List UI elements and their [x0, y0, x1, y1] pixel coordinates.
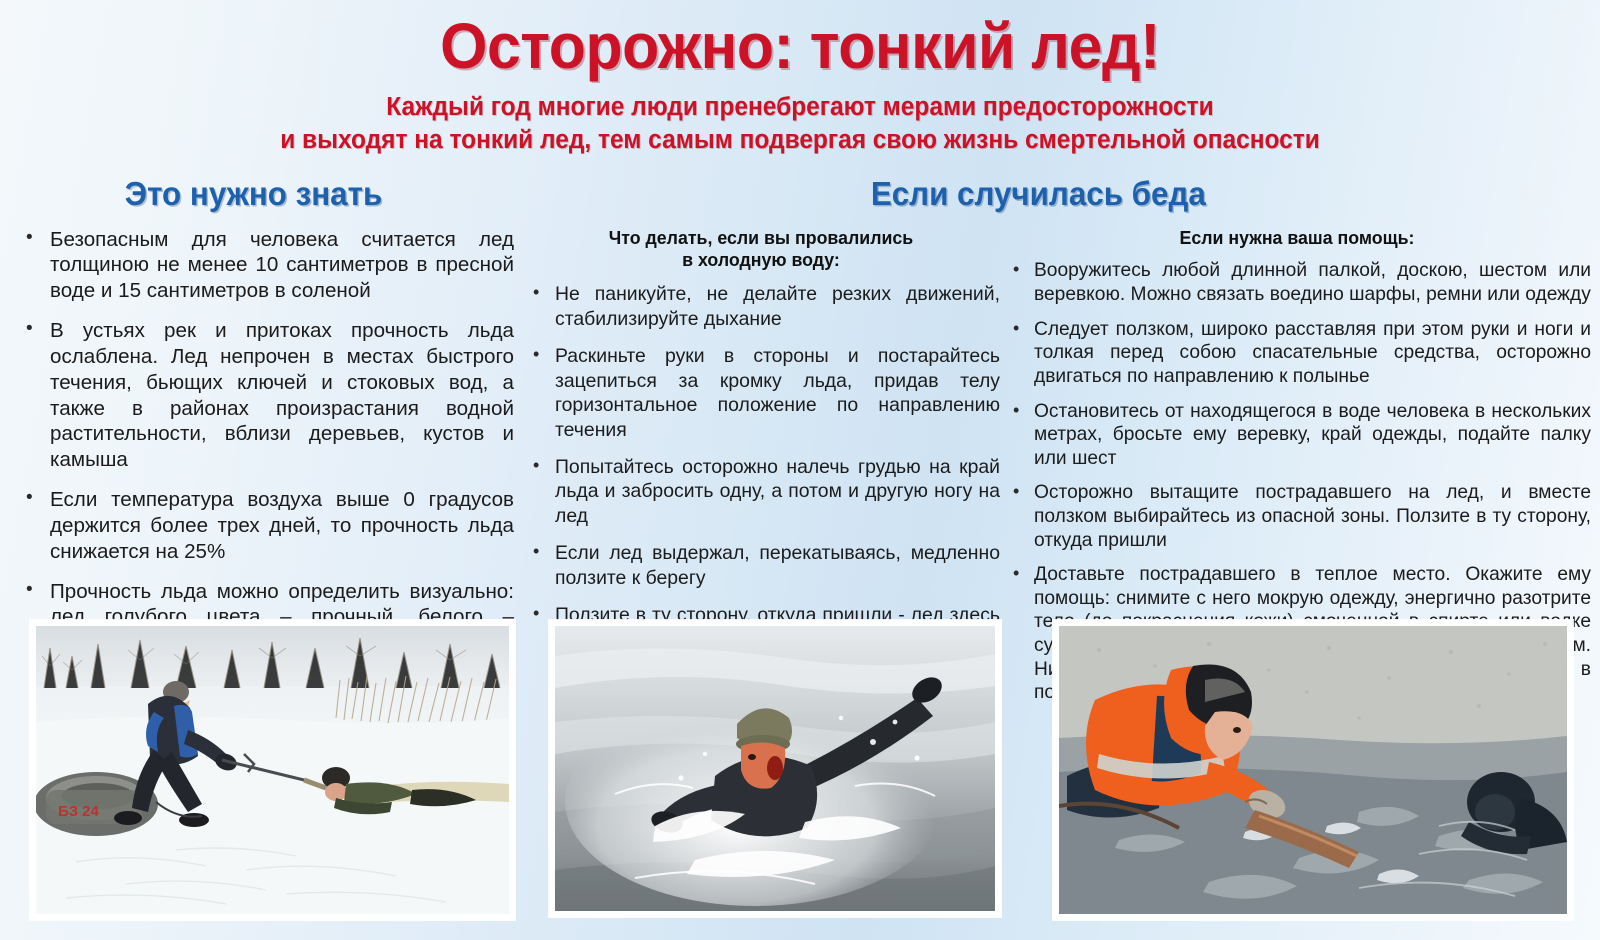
- column-fell-in: Что делать, если вы провалились в холодн…: [522, 227, 1000, 653]
- list-item: Попытайтесь осторожно налечь грудью на к…: [522, 455, 1000, 528]
- content-columns: Безопасным для человека считается лед то…: [0, 227, 1600, 597]
- list-item: Вооружитесь любой длинной палкой, доскою…: [1003, 259, 1591, 306]
- list-item: Раскиньте руки в стороны и постарайтесь …: [522, 344, 1000, 442]
- page-title: Осторожно: тонкий лед!: [40, 14, 1560, 79]
- list-item: Безопасным для человека считается лед то…: [14, 227, 514, 305]
- rescuer-on-ice-illustration: [1059, 626, 1567, 914]
- svg-text:БЗ 24: БЗ 24: [58, 803, 99, 820]
- list-item: В устьях рек и притоках прочность льда о…: [14, 318, 514, 473]
- column-fell-in-heading-line-2: в холодную воду:: [532, 249, 991, 272]
- list-item: Осторожно вытащите пострадавшего на лед,…: [1003, 481, 1591, 552]
- photo-image-2: [555, 626, 995, 911]
- list-item: Если температура воздуха выше 0 градусов…: [14, 487, 514, 565]
- photo-image-1: БЗ 24: [36, 626, 509, 914]
- column-fell-in-heading: Что делать, если вы провалились в холодн…: [532, 227, 991, 273]
- poster-header: Осторожно: тонкий лед! Каждый год многие…: [0, 0, 1600, 157]
- section-heading-know: Это нужно знать: [125, 175, 382, 213]
- column-help-heading-text: Если нужна ваша помощь:: [1015, 227, 1579, 250]
- column-help-heading: Если нужна ваша помощь:: [1015, 227, 1579, 250]
- photo-strip: БЗ 24: [0, 612, 1600, 932]
- ice-safety-poster: Осторожно: тонкий лед! Каждый год многие…: [0, 0, 1600, 940]
- fell-in-bullet-list: Не паникуйте, не делайте резких движений…: [522, 282, 1000, 652]
- subtitle-line-1: Каждый год многие люди пренебрегают мера…: [32, 91, 1568, 124]
- column-fell-in-heading-line-1: Что делать, если вы провалились: [532, 227, 991, 250]
- subtitle-line-2: и выходят на тонкий лед, тем самым подве…: [32, 124, 1568, 157]
- list-item: Следует ползком, широко расставляя при э…: [1003, 318, 1591, 389]
- list-item: Если лед выдержал, перекатываясь, медлен…: [522, 541, 1000, 590]
- list-item: Не паникуйте, не делайте резких движений…: [522, 282, 1000, 331]
- falling-through-ice-illustration: [555, 626, 995, 911]
- poster-subtitle: Каждый год многие люди пренебрегают мера…: [32, 91, 1568, 156]
- section-headings: Это нужно знать Если случилась беда: [0, 173, 1600, 225]
- list-item: Остановитесь от находящегося в воде чело…: [1003, 400, 1591, 471]
- photo-man-falling-through-ice: [549, 620, 1001, 917]
- photo-rescuer-reaching-victim: [1053, 620, 1573, 920]
- snow-rescue-illustration: БЗ 24: [36, 626, 509, 914]
- photo-rescue-pulling-victim-on-snow: БЗ 24: [30, 620, 515, 920]
- section-heading-trouble: Если случилась беда: [871, 175, 1206, 213]
- photo-image-3: [1059, 626, 1567, 914]
